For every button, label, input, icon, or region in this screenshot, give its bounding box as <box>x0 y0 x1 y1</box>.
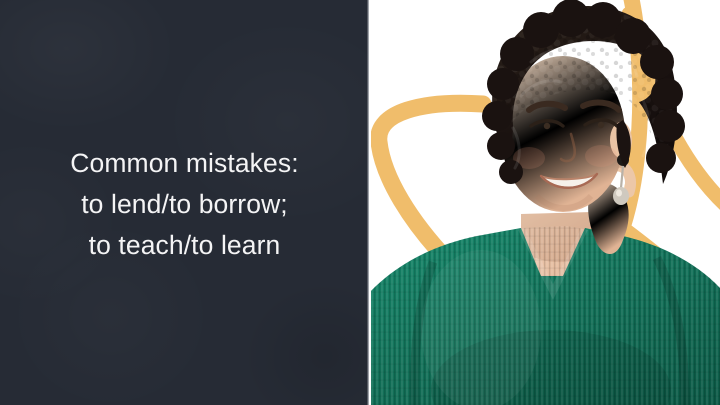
headline-line-1: Common mistakes: <box>70 143 298 184</box>
headline: Common mistakes: to lend/to borrow; to t… <box>0 0 369 405</box>
portrait-photo <box>371 0 720 405</box>
headline-line-3: to teach/to learn <box>89 225 281 266</box>
headline-line-2: to lend/to borrow; <box>81 184 288 225</box>
slide: Common mistakes: to lend/to borrow; to t… <box>0 0 720 405</box>
portrait-illustration <box>371 0 720 405</box>
